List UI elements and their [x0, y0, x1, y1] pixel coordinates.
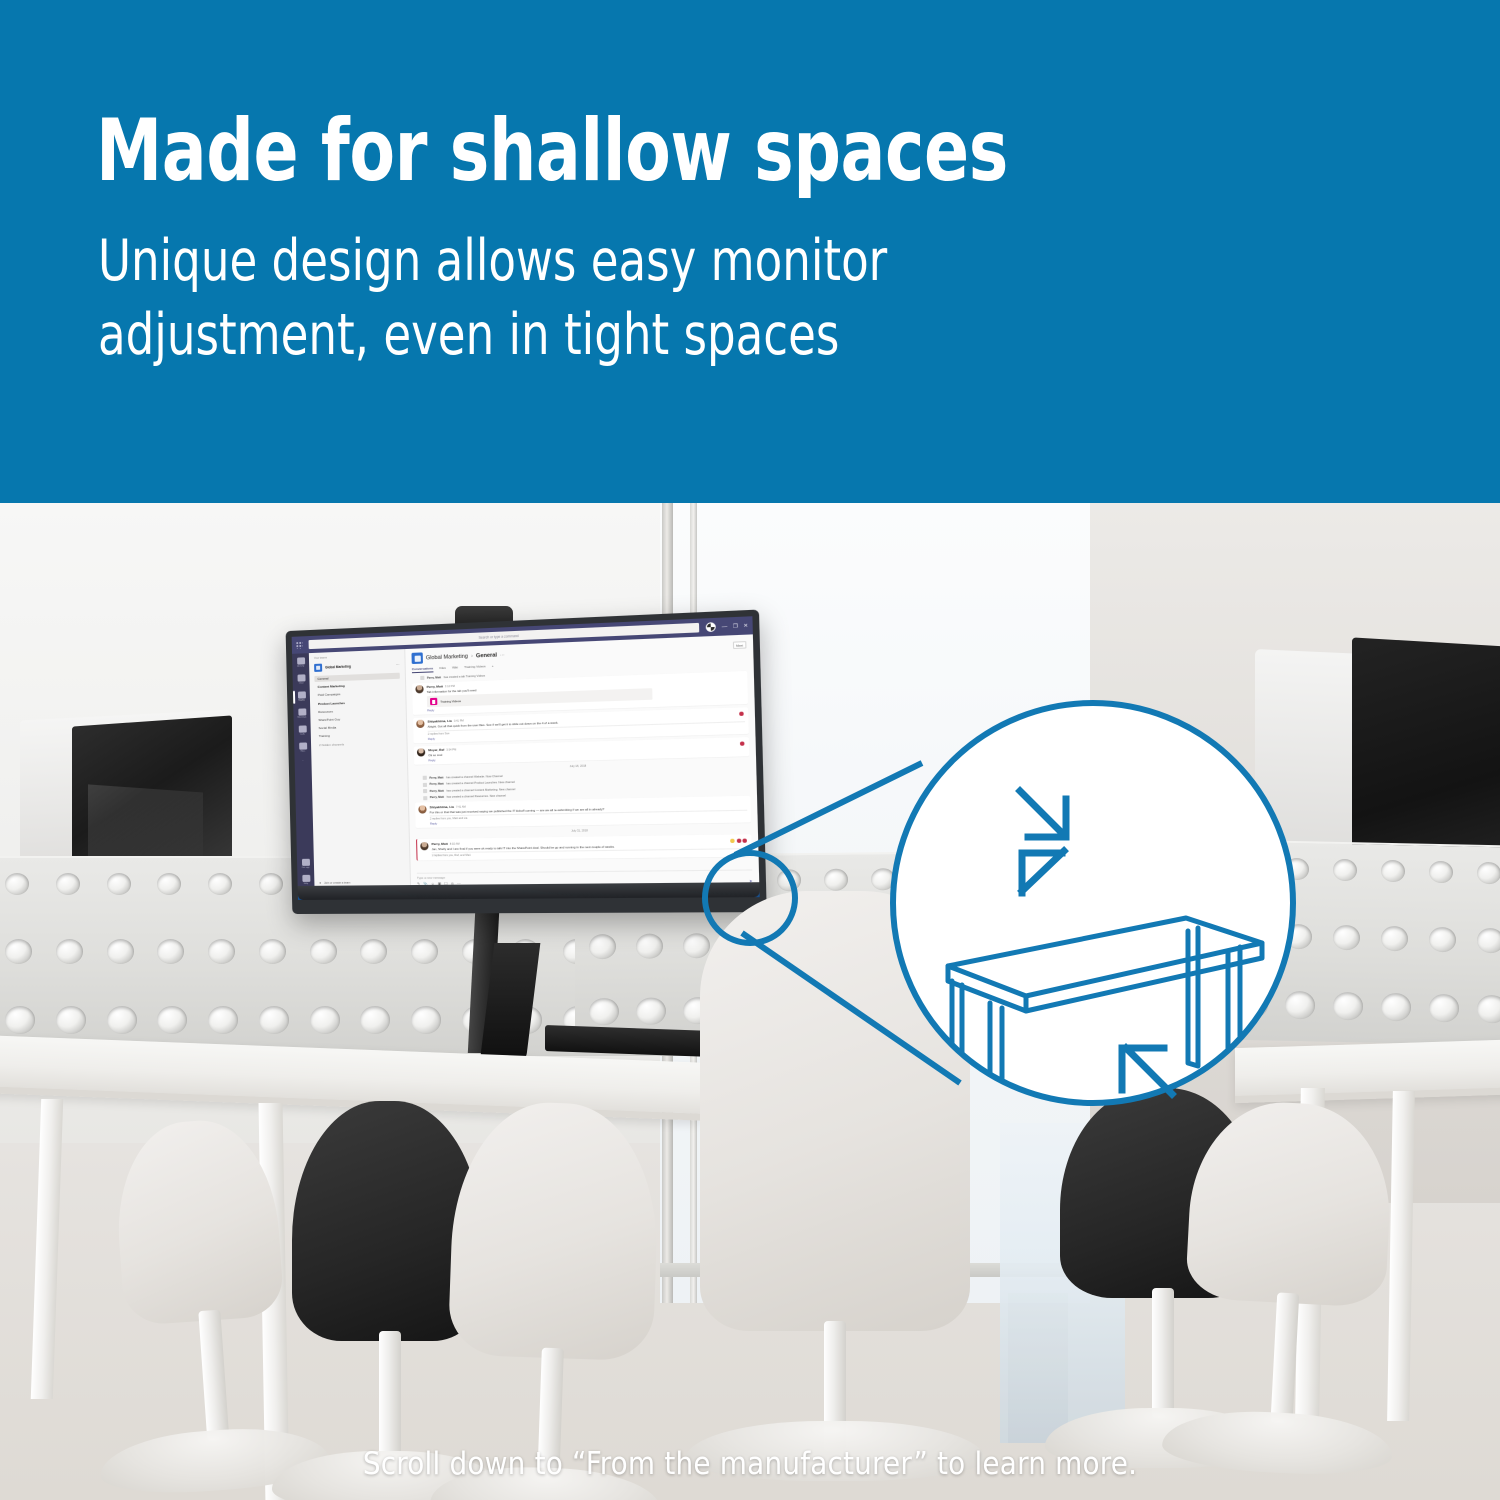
perforation-hole [208, 1006, 238, 1034]
tab-added-icon [420, 676, 424, 680]
breadcrumb-channel[interactable]: General [476, 652, 497, 659]
sidebar-item-product-launches[interactable]: Product Launches [315, 698, 401, 707]
perforation-hole [1429, 860, 1453, 883]
calendar-icon [298, 708, 306, 715]
system-actor: Perry, Matt [430, 783, 444, 786]
teams-icon [297, 691, 305, 698]
subtitle-line-1: Unique design allows easy monitor [98, 224, 887, 298]
perforation-hole [1429, 994, 1459, 1022]
help-icon [302, 875, 310, 882]
perforation-hole [310, 939, 337, 964]
chair-shell [700, 891, 970, 1331]
reaction-group[interactable] [739, 711, 744, 715]
perforation-hole [1012, 930, 1039, 955]
perforation-hole [1094, 853, 1118, 876]
monitor: Search or type a command — ❐ ✕ Activity [286, 610, 767, 915]
teams-app: Search or type a command — ❐ ✕ Activity [292, 616, 760, 900]
desk-surface-right [1235, 1038, 1500, 1103]
tab-card-label: Training Videos [440, 699, 461, 704]
bell-icon [297, 657, 305, 664]
day-divider: July 31, 2018 [416, 827, 751, 835]
teams-main-pane: Global Marketing › General ··· Meet Conv… [405, 634, 759, 888]
sidebar-item-sharepoint-guy[interactable]: SharePoint Guy [315, 714, 401, 723]
perforation-hole [56, 1006, 86, 1034]
system-actor: Perry, Matt [430, 796, 444, 799]
message-body: Moyer, Raf3:54 PM Ok so cool Reply [428, 739, 746, 762]
perforation-hole [1429, 927, 1456, 952]
chair-post [1152, 1288, 1174, 1418]
minimize-button[interactable]: — [722, 623, 728, 630]
sidebar-item-paid-campaigns[interactable]: Paid Campaigns [315, 689, 401, 698]
message-time: 7:41 AM [456, 805, 466, 808]
sidebar-item-resources[interactable]: Resources [315, 706, 401, 715]
perforation-hole [411, 1006, 441, 1034]
marketing-image: Made for shallow spaces Unique design al… [0, 0, 1500, 1500]
sidebar-caption: Your teams [314, 653, 399, 660]
page-title: Made for shallow spaces [96, 104, 1008, 198]
close-button[interactable]: ✕ [743, 622, 748, 629]
perforation-hole [1012, 993, 1042, 1021]
subtitle-line-2: adjustment, even in tight spaces [98, 298, 887, 372]
perforation-hole [1094, 987, 1124, 1015]
system-text: has created a tab Training Videos [444, 674, 486, 679]
perforation-hole [5, 873, 29, 895]
perforation-hole [5, 1006, 35, 1034]
maximize-button[interactable]: ❐ [733, 623, 738, 630]
message-author: Shlyakhtina, Lia [427, 719, 451, 724]
heart-reaction-icon[interactable] [730, 839, 735, 843]
desk-leg [31, 1099, 63, 1399]
perforation-hole [589, 998, 619, 1026]
system-actor: Perry, Matt [430, 789, 444, 792]
reaction-group[interactable] [740, 741, 745, 745]
avatar [418, 805, 426, 813]
perforation-hole [107, 1006, 137, 1034]
perforation-hole [157, 873, 181, 895]
channel-more-icon[interactable]: ··· [500, 652, 505, 657]
perforation-hole [1238, 923, 1265, 948]
rail-item-more[interactable]: ... [295, 759, 312, 761]
chair [448, 1100, 662, 1362]
rail-bottom-group: Get app Help [301, 859, 310, 889]
team-name: Global Marketing [325, 663, 393, 670]
perforation-hole [310, 1006, 340, 1034]
avatar [416, 720, 424, 728]
bottom-caption: Scroll down to “From the manufacturer” t… [0, 1446, 1500, 1482]
perforation-hole [5, 939, 32, 964]
perforation-hole [1285, 991, 1315, 1019]
tab-wiki[interactable]: Wiki [452, 665, 458, 672]
perforation-hole [360, 1006, 390, 1034]
perforation-hole [1381, 993, 1411, 1021]
like-reaction-icon[interactable] [736, 839, 741, 843]
conversation-feed[interactable]: Perry, Matt has created a tab Training V… [412, 664, 753, 888]
perforation-hole [411, 939, 438, 964]
perforation-hole [871, 868, 895, 890]
perforation-hole [1142, 921, 1169, 946]
message-item[interactable]: Shlyakhtina, Lia7:41 AM For this or that… [415, 796, 751, 828]
perforation-hole [1190, 922, 1217, 947]
perforation-hole [1285, 857, 1309, 880]
perforation-hole [918, 868, 942, 890]
rail-label: ... [302, 760, 304, 762]
rail-item-chat[interactable]: Chat [293, 674, 310, 685]
perforation-hole [965, 867, 989, 889]
perforation-hole [259, 1006, 289, 1034]
flag-reaction-icon[interactable] [742, 839, 747, 843]
files-icon [299, 742, 307, 749]
channel-added-icon [423, 782, 427, 786]
sidebar-item-hidden-channels[interactable]: 2 hidden channels [316, 739, 402, 748]
perforation-hole [636, 934, 663, 959]
rail-item-help[interactable]: Help [302, 875, 310, 885]
chair-post [379, 1331, 401, 1461]
perforation-hole [259, 873, 283, 895]
app-grid-icon[interactable] [296, 641, 303, 648]
breadcrumb-separator: › [471, 653, 473, 659]
chair-shell [1185, 1098, 1395, 1308]
perforation-hole [777, 869, 801, 891]
perforation-hole [1285, 924, 1312, 949]
perforation-hole [1333, 992, 1363, 1020]
sidebar-item-training[interactable]: Training [316, 731, 402, 740]
rail-label: Help [304, 883, 309, 885]
teams-sidebar: Your teams Global Marketing ··· General … [309, 649, 411, 889]
perforation-hole [208, 939, 235, 964]
perforation-hole [1333, 858, 1357, 881]
page-subtitle: Unique design allows easy monitor adjust… [98, 224, 887, 372]
message-body: Perry, Matt3:12 PM Tab information for t… [427, 674, 745, 713]
like-reaction-icon[interactable] [739, 711, 744, 715]
perforation-hole [824, 869, 848, 891]
team-avatar-icon [411, 652, 423, 664]
message-body: Shlyakhtina, Lia3:41 PM Alright. Got all… [427, 710, 745, 741]
rail-label: Meetings [298, 716, 307, 718]
perforation-hole [157, 1006, 187, 1034]
sidebar-item-social-media[interactable]: Social Media [316, 723, 402, 732]
chair-shell [111, 1116, 285, 1327]
perforation-hole [589, 934, 616, 959]
chair-foreground [700, 891, 970, 1331]
perforation-hole [259, 939, 286, 964]
chair [1185, 1098, 1395, 1308]
perforation-hole [1477, 928, 1500, 953]
perforation-hole [1477, 861, 1500, 884]
video-tab-icon [430, 698, 437, 705]
message-time: 3:41 PM [454, 720, 464, 723]
channel-added-icon [423, 776, 427, 780]
message-body: Perry, Matt8:02 AM Jan, Shelly and I are… [431, 837, 748, 858]
rail-item-files[interactable]: Files [294, 742, 311, 752]
perforation-hole [1142, 988, 1172, 1016]
system-text: has created a channel Product Launches. … [446, 781, 515, 786]
system-text: has created a channel Content Marketing.… [446, 788, 515, 793]
team-more-icon[interactable]: ··· [396, 663, 400, 667]
rail-label: Teams [298, 699, 304, 701]
rail-label: Activity [297, 665, 304, 667]
message-time: 3:54 PM [446, 748, 456, 751]
perforation-pattern [1080, 838, 1500, 1045]
tab-training-videos[interactable]: Training Videos [464, 664, 486, 671]
perforation-hole [56, 873, 80, 895]
rail-label: Chat [299, 682, 304, 684]
perforation-hole [157, 939, 184, 964]
perforation-hole [107, 939, 134, 964]
message-author: Perry, Matt [427, 685, 443, 690]
perforation-hole [107, 873, 131, 895]
perforation-hole [636, 997, 666, 1025]
system-text: has created a channel Website. Now Chann… [446, 775, 503, 779]
perforation-hole [56, 939, 83, 964]
avatar [415, 685, 423, 693]
team-header[interactable]: Global Marketing ··· [314, 660, 400, 671]
rail-label: Get app [302, 867, 310, 869]
avatar [417, 748, 425, 756]
system-actor: Perry, Matt [429, 776, 443, 779]
header-band: Made for shallow spaces Unique design al… [0, 0, 1500, 503]
team-avatar-icon [314, 664, 322, 672]
teams-body: Activity Chat Teams Meetings [292, 634, 759, 889]
breadcrumb-team[interactable]: Global Marketing [426, 653, 468, 661]
message-author: Perry, Matt [431, 842, 447, 846]
rail-item-meetings[interactable]: Meetings [293, 708, 310, 719]
join-team-label: Join or create a team [324, 880, 350, 884]
perforation-hole [1381, 859, 1405, 882]
chair-post [198, 1310, 229, 1441]
message-body: Shlyakhtina, Lia7:41 AM For this or that… [430, 799, 748, 826]
perforation-hole [1238, 990, 1268, 1018]
window-controls[interactable]: — ❐ ✕ [706, 621, 748, 632]
monitor-bezel-chin [298, 882, 760, 900]
system-actor: Perry, Matt [427, 676, 441, 680]
tab-add[interactable]: + [492, 664, 494, 671]
perforation-hole [208, 873, 232, 895]
message-item[interactable]: Perry, Matt8:02 AM Jan, Shelly and I are… [416, 834, 752, 860]
rail-item-activity[interactable]: Activity [292, 657, 309, 668]
rail-item-teams[interactable]: Teams [293, 691, 310, 702]
chair-shell [448, 1100, 662, 1362]
perforation-hole [1190, 855, 1214, 878]
avatar [420, 842, 428, 850]
phone-icon [298, 725, 306, 732]
channel-added-icon [423, 796, 427, 800]
office-photo: Search or type a command — ❐ ✕ Activity [0, 503, 1500, 1500]
perforation-hole [1238, 856, 1262, 879]
perforation-hole [1012, 867, 1036, 889]
tab-conversations[interactable]: Conversations [412, 666, 433, 673]
perforation-hole [1381, 926, 1408, 951]
perforation-hole [1190, 989, 1220, 1017]
perforation-hole [1333, 925, 1360, 950]
join-or-create-team-button[interactable]: ● Join or create a team [319, 880, 405, 885]
reaction-group[interactable] [730, 839, 747, 843]
message-author: Shlyakhtina, Lia [430, 804, 454, 809]
tab-files[interactable]: Files [439, 666, 446, 673]
download-icon [301, 859, 309, 866]
system-text: has created a channel Resources. New cha… [446, 795, 505, 799]
chat-icon [297, 674, 305, 681]
privacy-screen-right [1080, 836, 1500, 1045]
message-time: 8:02 AM [450, 842, 460, 845]
message-author: Moyer, Raf [428, 748, 444, 753]
rail-label: Calls [300, 734, 305, 736]
rail-item-get-app[interactable]: Get app [301, 859, 309, 869]
perforation-hole [360, 939, 387, 964]
rail-item-calls[interactable]: Calls [294, 725, 311, 736]
avatar[interactable] [706, 622, 716, 632]
rail-label: Files [301, 751, 306, 753]
message-time: 3:12 PM [445, 685, 455, 688]
perforation-hole [1094, 920, 1121, 945]
chair [111, 1116, 285, 1327]
people-icon: ● [319, 881, 321, 885]
channel-added-icon [423, 789, 427, 793]
like-reaction-icon[interactable] [740, 741, 745, 745]
perforation-hole [1477, 995, 1500, 1023]
meet-button[interactable]: Meet [733, 641, 747, 650]
perforation-hole [1142, 854, 1166, 877]
